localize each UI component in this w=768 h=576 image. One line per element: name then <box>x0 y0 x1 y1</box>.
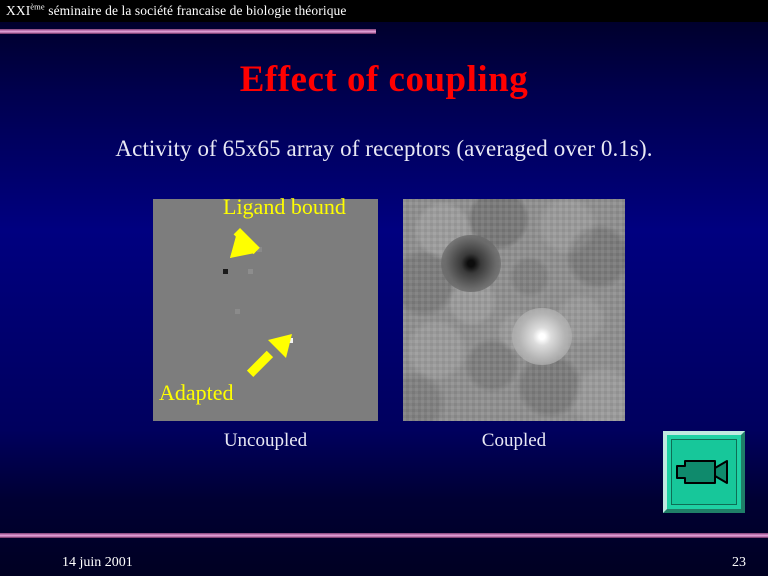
arrow-up-right-icon <box>248 330 296 378</box>
slide-subtitle: Activity of 65x65 array of receptors (av… <box>0 136 768 162</box>
caption-uncoupled: Uncoupled <box>153 430 378 452</box>
header-prefix: XXI <box>6 3 30 18</box>
play-movie-button[interactable] <box>663 431 745 513</box>
annotation-ligand-bound: Ligand bound <box>223 194 346 220</box>
slide-canvas: XXIème séminaire de la société francaise… <box>0 0 768 576</box>
camcorder-icon <box>675 456 733 488</box>
page-title: Effect of coupling <box>0 58 768 101</box>
arrow-down-left-icon <box>222 218 270 266</box>
caption-coupled: Coupled <box>403 430 625 452</box>
coupled-bright-cluster <box>512 308 572 366</box>
coupled-dark-cluster <box>441 235 501 293</box>
panel-coupled-image <box>403 199 625 421</box>
receptor-pixel-faint-c <box>235 309 240 314</box>
footer-divider <box>0 533 768 538</box>
play-movie-button-face <box>671 439 737 505</box>
footer-page-number: 23 <box>732 555 746 571</box>
coupled-noise-grain <box>403 199 625 421</box>
header-divider <box>0 29 376 34</box>
header-rest: séminaire de la société francaise de bio… <box>45 3 347 18</box>
footer-date: 14 juin 2001 <box>62 555 133 571</box>
annotation-adapted: Adapted <box>159 380 234 406</box>
seminar-header-text: XXIème séminaire de la société francaise… <box>6 2 347 19</box>
receptor-pixel-faint-a <box>248 269 253 274</box>
receptor-pixel-ligand-bound <box>223 269 228 274</box>
header-superscript: ème <box>30 2 44 12</box>
